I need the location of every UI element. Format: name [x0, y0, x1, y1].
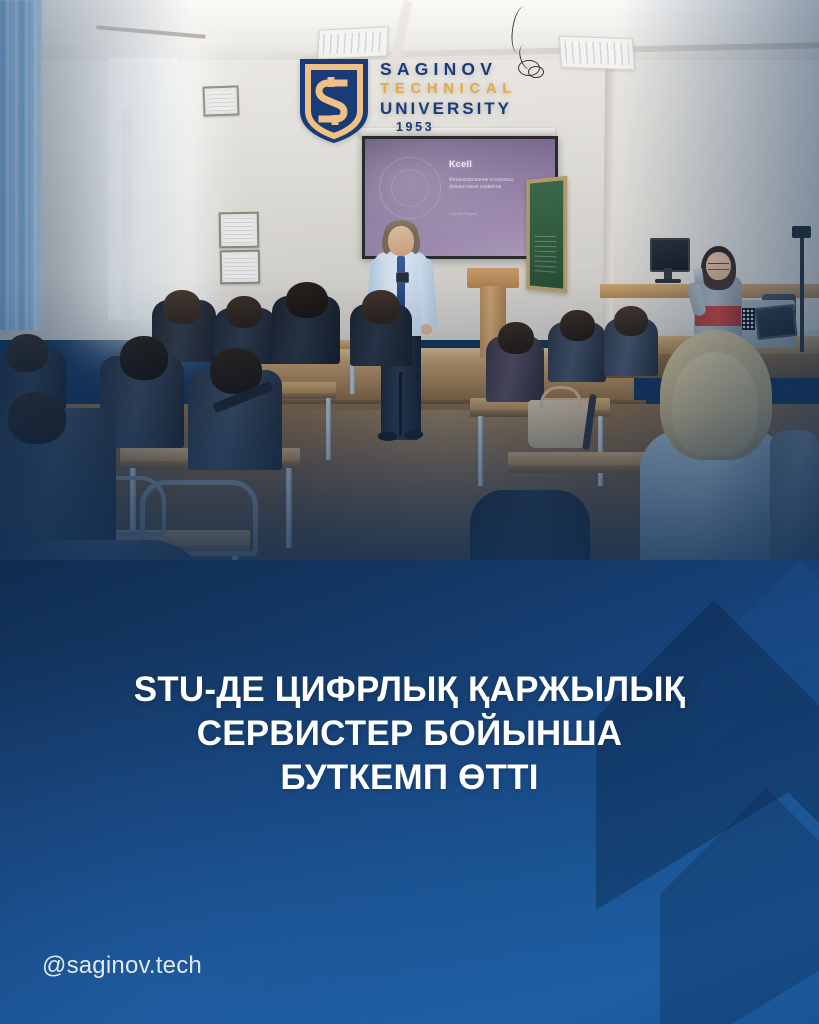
headline-line-3: БУТКЕМП ӨТТІ	[0, 756, 819, 800]
logo-line-university: UNIVERSITY	[380, 98, 545, 119]
headline-line-2: СЕРВИСТЕР БОЙЫНША	[0, 712, 819, 756]
logo-founding-year: 1953	[396, 119, 545, 135]
poster-canvas: Kcell Финансирование и сервисы финансовы…	[0, 0, 819, 1024]
headline: STU-ДЕ ЦИФРЛЫҚ ҚАРЖЫЛЫҚ СЕРВИСТЕР БОЙЫНШ…	[0, 668, 819, 800]
logo-wordmark: SAGINOV TECHNICAL UNIVERSITY 1953	[380, 59, 545, 135]
headline-line-1: STU-ДЕ ЦИФРЛЫҚ ҚАРЖЫЛЫҚ	[0, 668, 819, 712]
logo-line-technical: TECHNICAL	[380, 79, 545, 98]
saginov-university-logo: SAGINOV TECHNICAL UNIVERSITY 1953	[298, 55, 543, 147]
social-handle[interactable]: @saginov.tech	[42, 952, 202, 980]
logo-line-saginov: SAGINOV	[380, 59, 545, 79]
shield-icon	[298, 57, 370, 145]
